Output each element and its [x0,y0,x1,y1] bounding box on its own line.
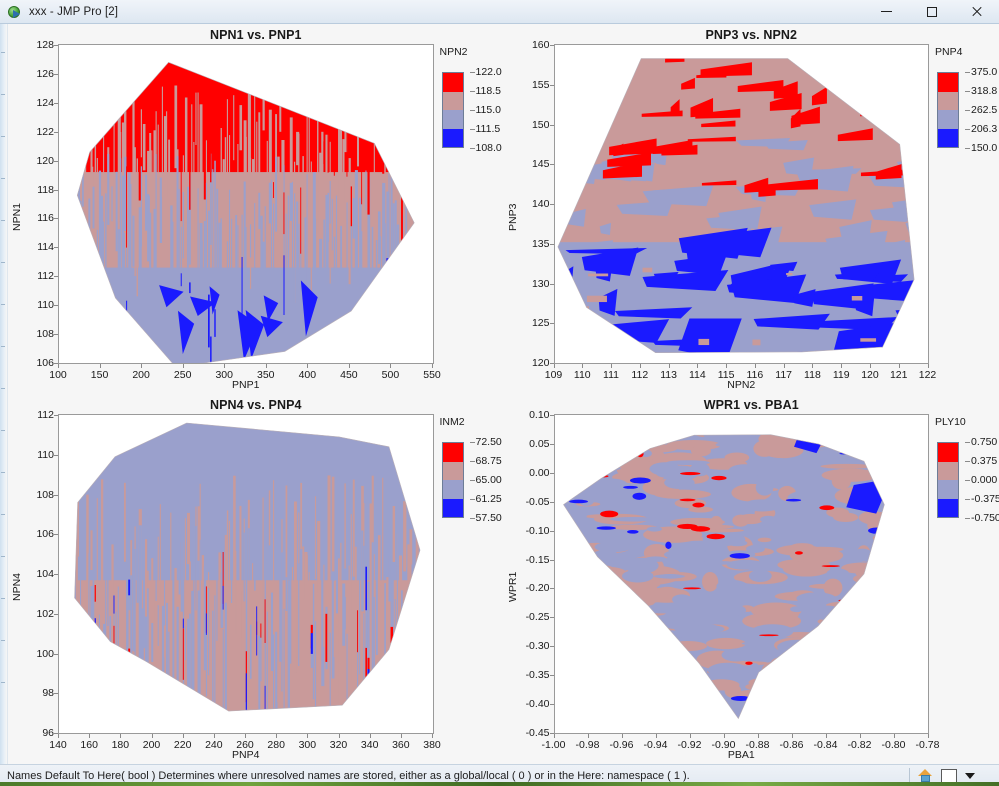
contour-patch [359,330,361,348]
contour-patch [80,533,81,635]
y-axis: 9698100102104106108110112 [24,414,58,760]
contour-patch [281,552,282,691]
y-axis-tick-label: 116 [37,212,54,224]
contour-patch [403,121,405,191]
legend-body: 72.5068.7565.0061.2557.50 [440,434,502,526]
legend-color-bar[interactable] [937,72,959,148]
contour-patch [288,580,290,733]
contour-patch [105,193,106,270]
contour-patch [342,139,344,203]
contour-patch [141,166,142,246]
contour-patch [185,518,186,640]
contour-patch [840,701,883,711]
y-axis-tick-label: -0.10 [526,525,550,537]
x-axis-tick [390,364,391,368]
contour-patch [793,53,811,64]
contour-patch [134,549,135,719]
contour-patch [555,711,563,715]
contour-patch [665,542,671,549]
contour-patch [918,151,928,156]
chart-inner: NPN49698100102104106108110112PNP41401601… [10,414,502,760]
contour-patch [376,240,377,340]
x-axis-tick [622,734,623,738]
contour-patch [347,634,348,733]
report-workarea: NPN1 vs. PNP1NPN110610811011211411611812… [0,24,999,764]
contour-patch [424,549,426,665]
contour-patch [67,175,69,235]
contour-patch [581,457,631,466]
contour-patch [212,130,213,151]
legend-label: 57.50 [476,512,502,524]
contour-patch [216,189,218,272]
contour-patch [667,641,707,651]
contour-patch [309,518,310,572]
contour-patch [141,109,142,157]
contour-patch [901,573,928,584]
contour-patch [288,196,289,309]
chart-cell-1[interactable]: NPN1 vs. PNP1NPN110610811011211411611812… [8,24,504,394]
contour-patch [124,483,126,562]
x-axis-tick-label: 450 [340,369,358,381]
legend-label: 0.750 [971,436,997,448]
contour-patch [820,529,846,540]
contour-patch [716,580,747,593]
contour-patch [128,580,130,596]
plot-area[interactable] [58,414,434,734]
contour-patch [111,544,113,712]
contour-patch [416,161,417,297]
contour-patch [271,180,272,313]
contour-patch [851,296,861,300]
contour-patch [596,526,615,529]
x-axis-tick-label: 300 [299,739,317,751]
contour-patch [101,479,103,631]
y-axis-tick-label: -0.30 [526,640,550,652]
legend-tick [470,480,475,481]
contour-patch [675,727,686,733]
contour-patch [260,632,261,681]
contour-patch [886,576,920,588]
contour-patch [397,529,398,650]
contour-patch [202,555,204,709]
contour-patch [587,686,622,692]
x-axis-tick-label: 350 [257,369,275,381]
contour-patch [714,721,721,726]
y-axis-tick-label: 135 [532,238,550,250]
y-axis-tick-label: -0.45 [526,727,550,739]
y-axis-tick-label: 100 [36,648,54,660]
contour-patch [88,92,90,148]
contour-patch [917,585,928,595]
x-axis-tick [245,734,246,738]
contour-patch [772,664,815,672]
x-axis-tick-label: 114 [689,369,706,381]
x-axis-tick [120,734,121,738]
contour-patch [370,89,372,136]
chart-cell-2[interactable]: PNP3 vs. NPN2PNP312012513013514014515015… [504,24,999,394]
y-axis-tick-label: 150 [532,119,550,131]
chart-inner: WPR10.100.050.00-0.05-0.10-0.15-0.20-0.2… [506,414,998,760]
contour-patch [111,186,112,221]
window-titlebar: xxx - JMP Pro [2] [0,0,999,24]
contour-patch [612,422,626,426]
contour-patch [871,437,883,450]
contour-patch [865,101,889,114]
x-axis-tick-label: 112 [631,369,648,381]
chart-cell-4[interactable]: WPR1 vs. PBA1WPR10.100.050.00-0.05-0.10-… [504,394,999,764]
contour-patch [166,111,167,197]
contour-patch [151,623,153,662]
contour-patch [256,536,257,570]
contour-patch [737,514,764,524]
contour-patch [866,636,890,648]
plot-area[interactable] [58,44,434,364]
contour-patch [250,224,251,257]
contour-patch [583,643,615,649]
contour-patch [594,491,637,501]
contour-patch [907,658,928,668]
contour-patch [378,74,380,117]
contour-patch [897,617,911,632]
contour-patch [881,53,894,64]
plot-area[interactable] [554,44,930,364]
contour-patch [721,649,750,662]
contour-patch [97,637,98,733]
contour-patch [357,126,359,166]
contour-patch [627,530,639,534]
maximize-button[interactable] [909,0,954,23]
legend-swatch-1 [938,73,958,92]
contour-patch [97,158,98,219]
contour-patch [298,563,299,666]
x-axis-tick [307,364,308,368]
contour-patch [601,620,651,627]
contour-patch [844,624,895,641]
contour-patch [86,227,88,363]
contour-patch [426,196,429,241]
contour-patch [810,656,849,661]
contour-patch [650,667,698,677]
legend-swatch-4 [938,129,958,148]
contour-patch [218,223,220,363]
y-axis-tick-label: 140 [532,198,550,210]
x-axis-tick-label: 260 [236,739,254,751]
contour-patch [361,122,362,204]
contour-patch [853,652,892,667]
contour-patch [164,116,166,244]
contour-patch [252,563,253,733]
contour-patch [668,422,711,435]
legend-label: 118.5 [476,85,502,97]
contour-patch [235,215,237,329]
contour-patch [200,104,203,222]
jmp-globe-icon [7,4,23,20]
contour-patch [794,551,802,554]
legend-tick [965,461,970,462]
legend-label: 375.0 [971,66,997,78]
contour-patch [616,655,656,660]
plot-block: PNP3120125130135140145150155160NPN210911… [506,44,930,390]
close-button[interactable] [954,0,999,23]
contour-patch [678,318,741,359]
contour-patch [340,102,342,193]
x-axis-tick [724,734,725,738]
contour-patch [689,415,709,424]
contour-patch [555,463,580,469]
contour-patch [353,480,355,577]
chevron-down-icon[interactable] [965,773,975,779]
contour-patch [376,103,377,134]
y-axis-tick-label: 96 [42,727,54,739]
contour-patch [698,339,709,345]
contour-patch [585,695,603,702]
contour-patch [794,636,815,652]
contour-patch [78,476,79,557]
legend-body: 122.0118.5115.0111.5108.0 [440,64,502,156]
contour-patch [344,483,345,568]
contour-patch [757,538,771,543]
legend: INM272.5068.7565.0061.2557.50 [434,414,502,760]
contour-patch [786,273,792,275]
contour-patch [626,701,666,709]
contour-patch [882,609,911,623]
contour-patch [565,607,580,616]
contour-patch [340,543,341,644]
contour-patch [770,657,791,668]
contour-patch [760,516,777,523]
contour-patch [254,591,255,705]
contour-patch [901,423,928,439]
x-axis-tick [640,364,641,368]
contour-patch [817,616,876,626]
chart-cell-3[interactable]: NPN4 vs. PNP4NPN496981001021041061081101… [8,394,504,764]
status-message: Names Default To Here( bool ) Determines… [7,770,690,782]
x-axis-tick [370,734,371,738]
x-axis: PBA1-1.00-0.98-0.96-0.94-0.92-0.90-0.88-… [554,734,930,760]
x-axis-tick-label: -0.84 [814,739,838,751]
contour-patch [61,92,62,234]
x-axis-tick [401,734,402,738]
contour-patch [409,134,410,209]
contour-patch [212,611,213,733]
legend-color-bar[interactable] [937,442,959,518]
contour-patch [869,100,884,118]
contour-patch [679,499,695,502]
x-axis-tick-label: 113 [660,369,677,381]
contour-patch [227,511,228,606]
contour-patch [367,669,369,720]
x-axis-tick [588,734,589,738]
x-axis-tick [58,364,59,368]
contour-patch [336,148,337,166]
contour-patch [416,178,417,215]
minimize-button[interactable] [864,0,909,23]
contour-patch [273,204,274,335]
contour-patch [158,125,159,240]
contour-patch [810,605,842,619]
contour-patch [867,682,902,692]
x-axis-tick [89,734,90,738]
contour-patch [248,500,250,668]
contour-patch [830,429,846,441]
contour-patch [59,204,60,243]
home-icon[interactable] [918,769,933,783]
contour-patch [80,201,82,324]
contour-patch [105,332,106,363]
contour-patch [617,707,647,723]
x-axis-tick [669,364,670,368]
legend-swatch-3 [938,480,958,499]
legend-tick [470,499,475,500]
contour-patch [116,172,118,251]
contour-patch [134,147,135,276]
contour-patch [677,524,698,529]
contour-patch [78,176,80,298]
contour-patch [162,87,163,198]
contour-patch [558,635,585,643]
contour-patch [290,515,291,663]
contour-patch [566,665,610,679]
contour-patch [126,532,128,699]
contour-patch [772,681,819,693]
x-axis-tick-label: 150 [91,369,109,381]
window-title: xxx - JMP Pro [2] [29,6,118,18]
contour-patch [267,612,268,714]
contour-patch [235,551,236,635]
contour-patch [168,632,169,733]
contour-patch [164,553,165,626]
contour-patch [195,93,196,145]
x-axis-tick-label: -0.80 [882,739,906,751]
contour-patch [330,181,331,224]
contour-patch [109,616,111,656]
contour-patch [727,416,763,422]
contour-patch [753,458,790,464]
legend-swatch-2 [443,92,463,111]
x-axis-tick [758,734,759,738]
contour-patch [336,519,338,614]
x-axis: PNP1100150200250300350400450500550 [58,364,434,390]
contour-patch [604,647,638,662]
contour-patch [317,108,318,234]
contour-patch [93,187,95,229]
contour-patch [922,159,928,175]
contour-patch [187,187,189,300]
contour-patch [830,648,889,658]
contour-patch [86,495,88,617]
contour-patch [825,601,883,609]
contour-patch [630,648,657,661]
contour-patch [422,194,424,274]
contour-patch [120,158,121,301]
contour-patch [908,511,924,517]
contour-patch [555,636,576,650]
contour-patch [321,132,323,179]
contour-patch [556,418,606,422]
contour-patch [283,192,284,234]
y-axis-tick-label: 0.05 [529,438,549,450]
plot-block: NPN49698100102104106108110112PNP41401601… [10,414,434,760]
contour-patch [183,155,184,187]
contour-patch [187,513,190,564]
contour-patch [84,139,86,257]
contour-patch [782,511,805,515]
contour-patch [231,516,232,604]
contour-patch [74,121,75,162]
x-axis-tick [183,734,184,738]
contour-patch [871,570,920,583]
contour-patch [114,115,115,232]
contour-patch [239,105,242,150]
contour-patch [374,123,375,206]
x-axis-tick [841,364,842,368]
contour-patch [753,445,797,450]
contour-patch [347,99,348,177]
contour-patch [855,694,905,711]
contour-patch [145,617,147,733]
contour-patch [555,566,601,580]
contour-patch [202,241,203,288]
contour-patch [692,503,704,508]
legend-label: -0.375 [971,493,999,505]
contour-patch [901,661,928,675]
contour-patch [63,200,64,298]
y-axis-tick-label: 118 [37,184,54,196]
contour-patch [237,515,239,565]
contour-patch [353,198,355,238]
contour-patch [254,556,255,591]
legend-body: 375.0318.8262.5206.3150.0 [935,64,997,156]
contour-patch [193,142,194,255]
y-axis-tick-label: 130 [532,278,550,290]
contour-patch [260,624,261,638]
contour-patch [632,723,643,733]
y-axis-tick-label: -0.25 [526,611,550,623]
window-controls [864,0,999,23]
color-swatch-button[interactable] [941,769,957,783]
contour-patch [384,119,385,181]
plot-block: WPR10.100.050.00-0.05-0.10-0.15-0.20-0.2… [506,414,930,760]
legend-color-bar[interactable] [442,72,464,148]
contour-patch [672,594,692,604]
contour-patch [63,544,66,590]
contour-patch [210,337,211,364]
jmp-window: xxx - JMP Pro [2] NPN1 vs. PNP1NPN110610… [0,0,999,786]
contour-patch [59,604,60,729]
contour-patch [307,555,308,720]
contour-patch [409,332,410,364]
plot-area[interactable] [554,414,930,734]
contour-patch [907,660,928,678]
status-divider [909,768,910,783]
contour-patch [759,634,779,636]
report-outline-rail[interactable] [0,24,8,764]
legend-color-bar[interactable] [442,442,464,518]
maximize-icon [927,7,937,17]
contour-patch [393,506,395,562]
chart-grid: NPN1 vs. PNP1NPN110610811011211411611812… [8,24,999,764]
x-axis-tick [339,734,340,738]
contour-patch [561,667,583,676]
chart-inner: NPN1106108110112114116118120122124126128… [10,44,502,390]
contour-patch [376,330,377,360]
resize-grip[interactable] [983,770,995,782]
contour-patch [644,604,681,613]
legend-tick [965,129,970,130]
legend-title: NPN2 [440,46,502,58]
close-icon [971,6,982,17]
x-axis-tick-label: 500 [382,369,400,381]
